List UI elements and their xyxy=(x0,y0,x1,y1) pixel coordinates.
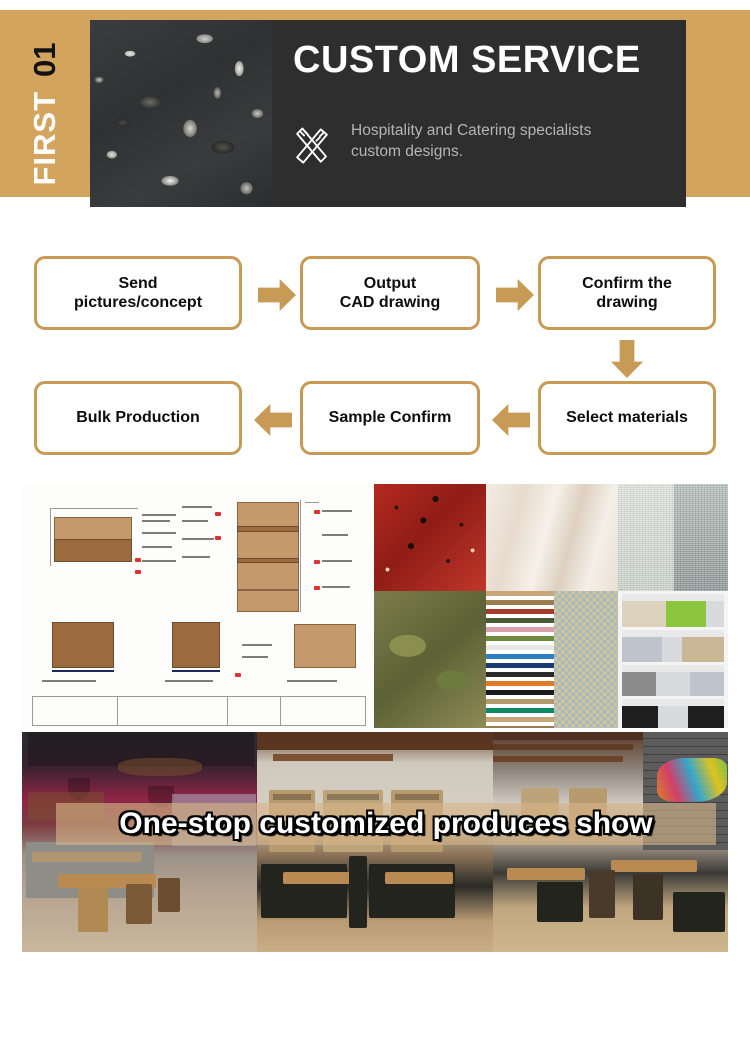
flow-step-label: Sample Confirm xyxy=(323,408,458,427)
arrow-output-to-confirm-icon xyxy=(496,279,534,311)
showcase-caption-band: One-stop customized produces show xyxy=(56,803,716,845)
terrazzo-texture-image xyxy=(90,20,272,207)
arrow-select-to-sample-icon xyxy=(492,404,530,436)
section-gallery-row-1: CAD Drawing Materials xyxy=(22,484,728,728)
banner-vertical-text: FIRST 01 xyxy=(27,42,63,185)
banner-info-panel: CUSTOM SERVICE Hospitality and Catering … xyxy=(272,20,686,207)
banner-ordinal-block: FIRST 01 xyxy=(0,20,90,207)
flow-step-confirm-drawing[interactable]: Confirm the drawing xyxy=(538,256,716,330)
arrow-send-to-output-icon xyxy=(258,279,296,311)
flow-step-label: Output CAD drawing xyxy=(334,274,446,312)
banner-number-label: 01 xyxy=(27,42,63,76)
flow-step-sample-confirm[interactable]: Sample Confirm xyxy=(300,381,480,455)
page-title: CUSTOM SERVICE xyxy=(293,41,641,79)
section-process-flow: Send pictures/concept Output CAD drawing… xyxy=(0,248,750,470)
banner-subtitle-row: Hospitality and Catering specialists cus… xyxy=(291,120,591,169)
flow-step-label: Bulk Production xyxy=(70,408,206,427)
flow-step-output-cad[interactable]: Output CAD drawing xyxy=(300,256,480,330)
flow-step-label: Select materials xyxy=(560,408,694,427)
materials-photo[interactable] xyxy=(374,484,728,728)
section-gallery-row-2: One-stop customized produces show xyxy=(22,732,728,952)
flow-step-bulk-production[interactable]: Bulk Production xyxy=(34,381,242,455)
flow-step-send-pictures[interactable]: Send pictures/concept xyxy=(34,256,242,330)
banner-ordinal-label: FIRST xyxy=(27,90,63,185)
ruler-pencil-icon xyxy=(291,123,333,169)
flow-step-select-materials[interactable]: Select materials xyxy=(538,381,716,455)
flow-step-label: Send pictures/concept xyxy=(68,274,208,312)
cad-drawing-photo[interactable] xyxy=(22,484,374,728)
section-header-banner: FIRST 01 CUSTOM SERVICE Hospitality and … xyxy=(0,10,750,197)
flow-step-label: Confirm the drawing xyxy=(576,274,678,312)
showcase-caption-text: One-stop customized produces show xyxy=(119,807,652,841)
banner-subtitle: Hospitality and Catering specialists cus… xyxy=(351,120,591,163)
arrow-confirm-to-select-icon xyxy=(611,340,643,378)
arrow-sample-to-bulk-icon xyxy=(254,404,292,436)
page-root: FIRST 01 CUSTOM SERVICE Hospitality and … xyxy=(0,0,750,1048)
